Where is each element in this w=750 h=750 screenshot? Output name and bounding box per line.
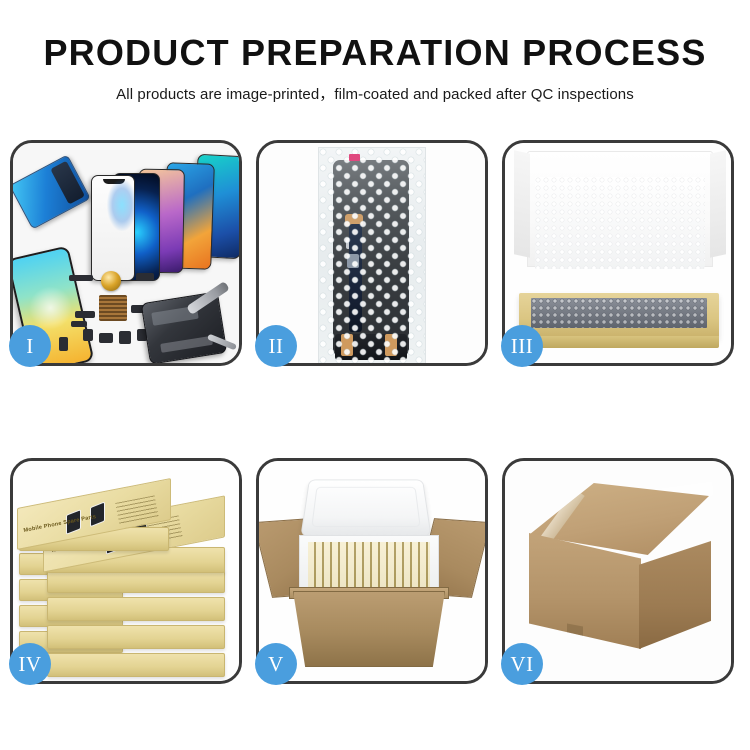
page-title: PRODUCT PREPARATION PROCESS	[0, 34, 750, 72]
process-step-card-6: VI	[502, 458, 734, 684]
part-taptic-icon	[119, 331, 131, 344]
part-sim-tray-icon	[83, 329, 93, 341]
retail-box-slab	[47, 625, 225, 649]
qc-sticker-icon	[349, 154, 360, 161]
retail-box-slab	[47, 597, 225, 621]
process-step-card-3: III	[502, 140, 734, 366]
packed-retail-boxes-icon	[308, 542, 430, 589]
carton-body-icon	[293, 591, 445, 667]
blue-screen-tilted-icon	[13, 154, 91, 229]
step-3-image	[505, 143, 731, 363]
phone-housing-board-icon	[141, 291, 228, 363]
carton-side-face	[639, 541, 711, 649]
tray-front-edge	[519, 336, 719, 348]
process-step-card-1: I	[10, 140, 242, 366]
process-step-card-4: Mobile Phone Spare Parts Mobile Phone Sp…	[10, 458, 242, 684]
screen-glow	[107, 179, 137, 231]
foam-lid-icon	[300, 480, 431, 537]
process-step-card-5: V	[256, 458, 488, 684]
part-connector-icon	[136, 273, 154, 281]
step-6-image	[505, 461, 731, 681]
part-camera-icon	[99, 333, 113, 343]
part-shield-icon	[71, 321, 87, 327]
carton-handle-notch	[567, 623, 583, 644]
step-2-image	[259, 143, 485, 363]
step-badge-1: I	[9, 325, 51, 367]
yellow-box-tray-icon	[519, 293, 719, 339]
retail-box-slab	[47, 653, 225, 677]
retail-box-stack: Mobile Phone Spare Parts Mobile Phone Sp…	[13, 461, 239, 681]
step-5-image	[259, 461, 485, 681]
product-preparation-page: PRODUCT PREPARATION PROCESS All products…	[0, 0, 750, 750]
part-flex-cable-icon	[75, 311, 95, 318]
part-battery-strip-icon	[59, 337, 68, 351]
step-1-image	[13, 143, 239, 363]
phone-screen-fan	[99, 149, 239, 274]
part-speaker-icon	[69, 275, 93, 281]
step-badge-4: IV	[9, 643, 51, 685]
foam-sheet-icon	[535, 177, 705, 269]
sealed-carton-icon	[521, 483, 717, 663]
step-badge-6: VI	[501, 643, 543, 685]
page-header: PRODUCT PREPARATION PROCESS All products…	[0, 0, 750, 104]
step-badge-5: V	[255, 643, 297, 685]
page-subtitle: All products are image-printed，film-coat…	[0, 83, 750, 104]
bubble-texture	[319, 148, 425, 363]
step-4-image: Mobile Phone Spare Parts Mobile Phone Sp…	[13, 461, 239, 681]
speaker-coil-icon	[101, 271, 121, 291]
bubble-wrapped-contents-icon	[531, 298, 707, 328]
step-badge-3: III	[501, 325, 543, 367]
chip-component-icon	[99, 295, 127, 321]
step-badge-2: II	[255, 325, 297, 367]
process-step-card-2: II	[256, 140, 488, 366]
process-steps-grid: I II	[10, 140, 740, 685]
bubble-wrap-bag	[318, 147, 426, 363]
